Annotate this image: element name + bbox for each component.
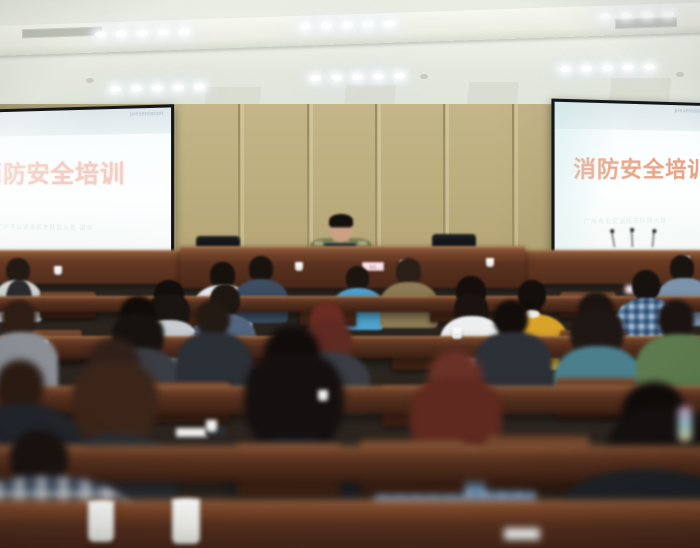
ceiling-panel — [609, 78, 672, 102]
slide-title-text: 消防安全培训 — [0, 153, 125, 189]
projection-screen-left: presentation 消防安全培训 广州市公安消防支队防火处 讲师 — [0, 104, 174, 262]
slide-subtitle-text: 广州市公安消防支队防火处 讲师 — [0, 222, 93, 233]
ceiling-downlight — [420, 74, 428, 79]
paper-cup — [318, 390, 328, 401]
slide-watermark-text: presentation — [675, 108, 700, 115]
paper-on-desk — [504, 528, 540, 540]
ceiling-downlight — [86, 78, 94, 83]
slide-title-text: 消防安全培训 — [573, 151, 700, 184]
paper-cup — [452, 328, 462, 339]
conference-room-photo: presentation 消防安全培训 广州市公安消防支队防火处 讲师 pres… — [0, 0, 700, 548]
paper-cup — [206, 420, 217, 432]
ceiling-panel — [467, 82, 519, 104]
slide-right: presentation 消防安全培训 广州市公安消防支队防火处 — [555, 102, 700, 257]
slide-header-band — [555, 102, 700, 131]
slide-left: presentation 消防安全培训 广州市公安消防支队防火处 讲师 — [0, 107, 171, 258]
ceiling-vent — [615, 17, 677, 29]
paper-cup — [88, 502, 114, 542]
projection-screen-right: presentation 消防安全培训 广州市公安消防支队防火处 — [551, 99, 700, 260]
teacup — [295, 262, 303, 271]
teacup — [486, 258, 494, 267]
hair-clip — [678, 406, 692, 442]
ceiling-downlight — [676, 72, 684, 77]
eyeglasses-icon — [331, 226, 351, 230]
paper-on-desk — [176, 428, 208, 437]
slide-watermark-text: presentation — [130, 111, 164, 118]
paper-cup — [172, 500, 200, 544]
slide-subtitle-text: 广州市公安消防支队防火处 — [584, 216, 668, 226]
teacup — [54, 266, 62, 275]
